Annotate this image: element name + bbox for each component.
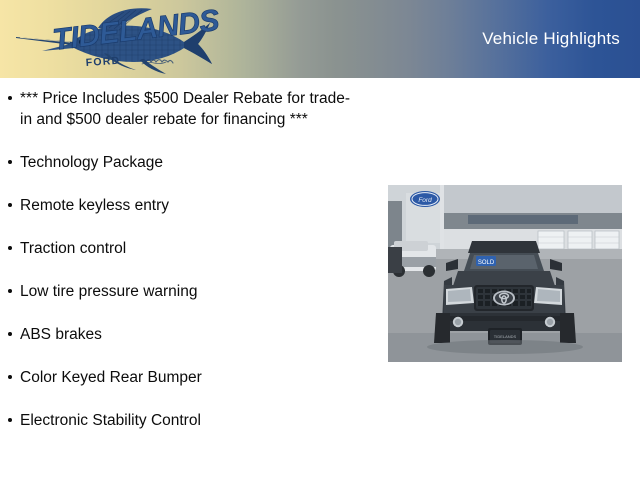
bullet-icon	[8, 96, 12, 100]
header-banner: TIDELANDS FORD Vehicle Highlights	[0, 0, 640, 78]
bullet-icon	[8, 375, 12, 379]
bullet-icon	[8, 332, 12, 336]
bullet-icon	[8, 289, 12, 293]
page-title: Vehicle Highlights	[482, 0, 620, 78]
vehicle-highlights-list: *** Price Includes $500 Dealer Rebate fo…	[0, 88, 360, 453]
list-item-label: ABS brakes	[20, 324, 360, 345]
page-title-text: Vehicle Highlights	[482, 29, 620, 49]
list-item: Technology Package	[0, 152, 360, 173]
list-item: Color Keyed Rear Bumper	[0, 367, 360, 388]
svg-text:SOLD: SOLD	[478, 260, 495, 266]
list-item-label: Technology Package	[20, 152, 360, 173]
bullet-icon	[8, 246, 12, 250]
list-item: Electronic Stability Control	[0, 410, 360, 431]
tire-left	[434, 313, 450, 343]
list-item-label: Low tire pressure warning	[20, 281, 360, 302]
list-item: Low tire pressure warning	[0, 281, 360, 302]
list-item: *** Price Includes $500 Dealer Rebate fo…	[0, 88, 360, 130]
list-item: ABS brakes	[0, 324, 360, 345]
list-item: Remote keyless entry	[0, 195, 360, 216]
content-area: *** Price Includes $500 Dealer Rebate fo…	[0, 78, 640, 480]
vehicle-front-photo[interactable]: Ford	[388, 185, 622, 362]
list-item-label: *** Price Includes $500 Dealer Rebate fo…	[20, 88, 360, 130]
list-item-label: Electronic Stability Control	[20, 410, 360, 431]
list-item: Traction control	[0, 238, 360, 259]
bullet-icon	[8, 418, 12, 422]
svg-text:TIDELANDS: TIDELANDS	[494, 334, 517, 339]
svg-text:Ford: Ford	[418, 197, 432, 204]
logo-sub-wordmark: FORD	[85, 55, 120, 69]
list-item-label: Color Keyed Rear Bumper	[20, 367, 360, 388]
tire-right	[560, 313, 576, 343]
bullet-icon	[8, 203, 12, 207]
list-item-label: Traction control	[20, 238, 360, 259]
tidelands-ford-logo[interactable]: TIDELANDS FORD	[12, 4, 228, 76]
bullet-icon	[8, 160, 12, 164]
list-item-label: Remote keyless entry	[20, 195, 360, 216]
